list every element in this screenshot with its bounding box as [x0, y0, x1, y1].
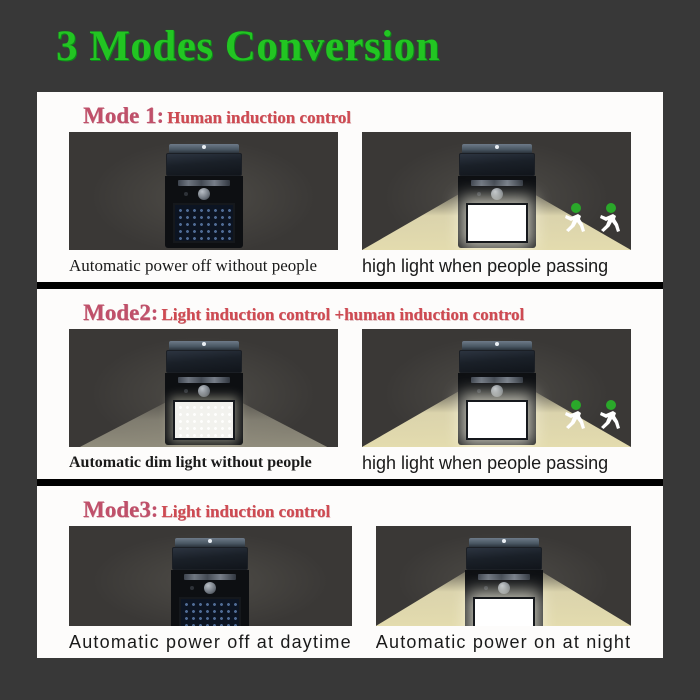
- mount-bracket-icon: [175, 538, 245, 547]
- lamp-photo-off: [69, 132, 338, 250]
- mode-1-panel-left: Automatic power off without people: [69, 132, 338, 282]
- led-dot-grid: [468, 205, 526, 241]
- caption-mode1-left: Automatic power off without people: [69, 250, 338, 282]
- mode-key-2: Mode2: [83, 300, 151, 325]
- people-group: [562, 202, 623, 234]
- sensor-row: [165, 188, 243, 201]
- solar-panel-icon: [172, 547, 248, 570]
- mode-3-panel-left: Automatic power off at daytime: [69, 526, 352, 658]
- indicator-led-icon: [477, 389, 481, 393]
- led-panel-off: [179, 597, 241, 626]
- sensor-row: [465, 582, 543, 595]
- led-panel-off: [173, 203, 235, 243]
- pir-sensor-icon: [498, 582, 510, 594]
- led-dot-grid: [175, 205, 233, 241]
- brand-label: [178, 377, 230, 383]
- modes-container: Mode 1:Human induction control: [0, 92, 700, 658]
- pir-sensor-icon: [198, 385, 210, 397]
- mode-1-panel-row: Automatic power off without people: [45, 132, 655, 282]
- brand-label: [471, 180, 523, 186]
- led-dot-grid: [181, 599, 239, 626]
- mode-heading-3: Mode3:Light induction control: [45, 498, 655, 521]
- mode-1-panel-right: high light when people passing: [362, 132, 631, 282]
- mode-2-panel-row: Automatic dim light without people: [45, 329, 655, 479]
- mode-card-2: Mode2:Light induction control +human ind…: [37, 289, 663, 479]
- lamp-body: [165, 176, 243, 248]
- brand-label: [178, 180, 230, 186]
- section-separator: [37, 282, 663, 289]
- mode-heading-1: Mode 1:Human induction control: [45, 104, 655, 127]
- pir-sensor-icon: [198, 188, 210, 200]
- lamp-body: [458, 176, 536, 248]
- mount-bracket-icon: [169, 341, 239, 350]
- led-panel-on: [466, 400, 528, 440]
- mode-3-panel-right: Automatic power on at night: [376, 526, 632, 658]
- caption-mode2-right: high light when people passing: [362, 447, 631, 479]
- caption-mode3-left: Automatic power off at daytime: [69, 626, 352, 658]
- mode-key-3: Mode3: [83, 497, 151, 522]
- solar-panel-icon: [459, 153, 535, 176]
- led-dot-grid: [475, 599, 533, 626]
- led-panel-dim: [173, 400, 235, 440]
- mode-description-3: Light induction control: [161, 502, 330, 521]
- running-person-icon: [562, 202, 588, 234]
- solar-panel-icon: [466, 547, 542, 570]
- led-dot-grid: [468, 402, 526, 438]
- mode-key-1: Mode 1: [83, 103, 156, 128]
- mode-3-panel-row: Automatic power off at daytime: [45, 526, 655, 658]
- running-person-icon: [597, 202, 623, 234]
- led-panel-on: [466, 203, 528, 243]
- lamp-body: [171, 570, 249, 626]
- lamp-photo-off: [69, 526, 352, 626]
- lamp-photo-on: [362, 132, 631, 250]
- mode-card-1: Mode 1:Human induction control: [37, 92, 663, 282]
- indicator-led-icon: [190, 586, 194, 590]
- mode-2-panel-left: Automatic dim light without people: [69, 329, 338, 479]
- solar-wall-lamp: [165, 144, 243, 248]
- brand-label: [184, 574, 236, 580]
- mode-colon-1: :: [156, 103, 164, 128]
- brand-label: [478, 574, 530, 580]
- sensor-row: [171, 582, 249, 595]
- caption-mode1-right: high light when people passing: [362, 250, 631, 282]
- pir-sensor-icon: [491, 188, 503, 200]
- running-person-icon: [597, 399, 623, 431]
- lamp-photo-dim: [69, 329, 338, 447]
- mode-card-3: Mode3:Light induction control: [37, 486, 663, 658]
- caption-mode3-right: Automatic power on at night: [376, 626, 632, 658]
- lamp-body: [458, 373, 536, 445]
- indicator-led-icon: [184, 389, 188, 393]
- mode-2-panel-right: high light when people passing: [362, 329, 631, 479]
- solar-panel-icon: [166, 350, 242, 373]
- pir-sensor-icon: [204, 582, 216, 594]
- led-panel-on: [473, 597, 535, 626]
- sensor-row: [458, 188, 536, 201]
- solar-wall-lamp: [458, 341, 536, 445]
- solar-wall-lamp: [465, 538, 543, 626]
- mount-bracket-icon: [462, 341, 532, 350]
- mode-colon-3: :: [151, 497, 159, 522]
- solar-panel-icon: [459, 350, 535, 373]
- mount-bracket-icon: [469, 538, 539, 547]
- lamp-body: [465, 570, 543, 626]
- led-dot-grid: [175, 402, 233, 438]
- infographic-root: 3 Modes Conversion Mode 1:Human inductio…: [0, 0, 700, 700]
- caption-mode2-left: Automatic dim light without people: [69, 447, 338, 479]
- lamp-photo-on: [362, 329, 631, 447]
- sensor-row: [458, 385, 536, 398]
- section-separator: [37, 479, 663, 486]
- indicator-led-icon: [477, 192, 481, 196]
- mode-heading-2: Mode2:Light induction control +human ind…: [45, 301, 655, 324]
- solar-panel-icon: [166, 153, 242, 176]
- mode-colon-2: :: [151, 300, 159, 325]
- running-person-icon: [562, 399, 588, 431]
- lamp-body: [165, 373, 243, 445]
- indicator-led-icon: [184, 192, 188, 196]
- mode-description-2: Light induction control +human induction…: [161, 305, 524, 324]
- title-bar: 3 Modes Conversion: [0, 0, 700, 92]
- solar-wall-lamp: [458, 144, 536, 248]
- people-group: [562, 399, 623, 431]
- pir-sensor-icon: [491, 385, 503, 397]
- lamp-photo-on: [376, 526, 632, 626]
- sensor-row: [165, 385, 243, 398]
- indicator-led-icon: [484, 586, 488, 590]
- page-title: 3 Modes Conversion: [56, 22, 440, 71]
- brand-label: [471, 377, 523, 383]
- mount-bracket-icon: [462, 144, 532, 153]
- mode-description-1: Human induction control: [167, 108, 351, 127]
- solar-wall-lamp: [171, 538, 249, 626]
- mount-bracket-icon: [169, 144, 239, 153]
- solar-wall-lamp: [165, 341, 243, 445]
